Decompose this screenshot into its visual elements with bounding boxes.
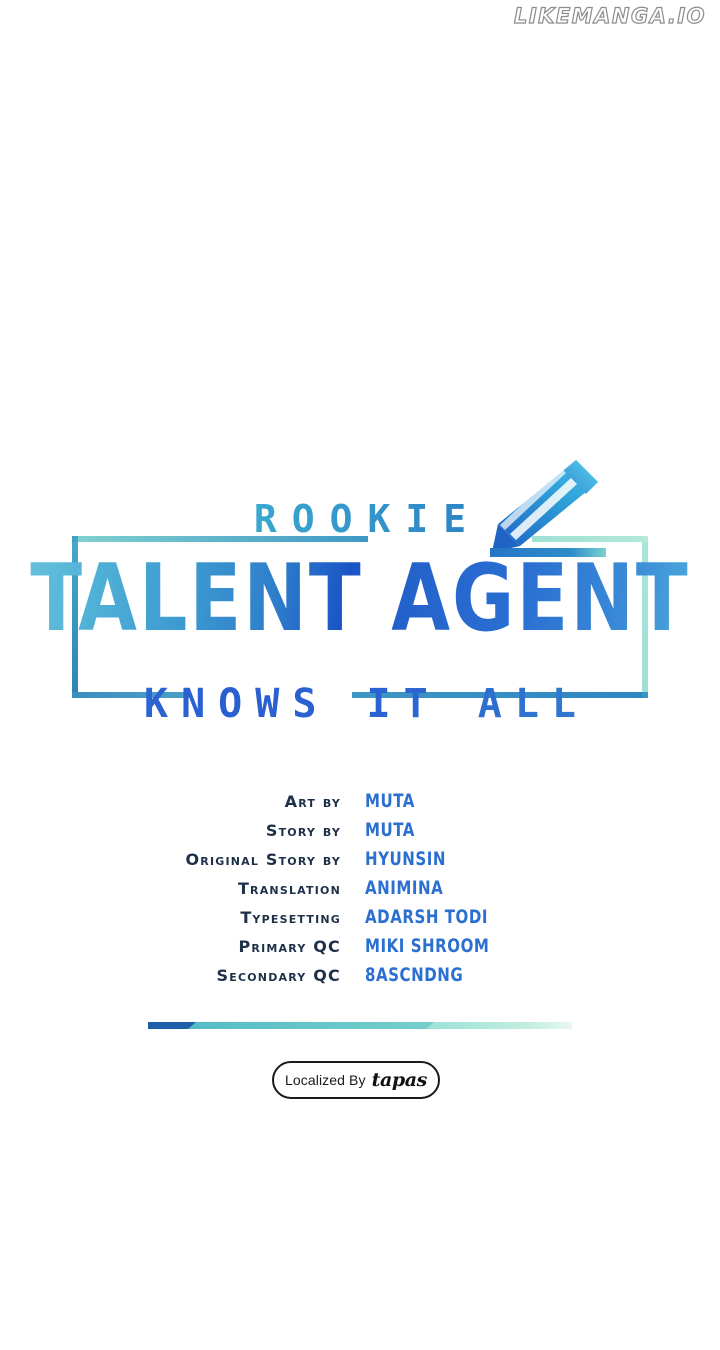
credit-label-typesetting: Typesetting (0, 908, 365, 927)
title-logo: ROOKIE TALENT AGENT KNOWS IT ALL (0, 452, 720, 752)
credits-list: Art by MUTA Story by MUTA Original Story… (0, 790, 720, 993)
credit-row: Secondary QC 8ASCNDNG (0, 964, 720, 993)
logo-line-rookie: ROOKIE (0, 500, 720, 538)
credit-label-primary-qc: Primary QC (0, 937, 365, 956)
tapas-brand-label: tapas (372, 1069, 427, 1091)
credit-value-story-by: MUTA (365, 819, 415, 841)
credit-value-translation: ANIMINA (365, 877, 443, 899)
credit-label-secondary-qc: Secondary QC (0, 966, 365, 985)
site-watermark: LIKEMANGA.IO (514, 4, 706, 28)
section-divider (148, 1022, 572, 1029)
credit-row: Art by MUTA (0, 790, 720, 819)
credit-value-typesetting: ADARSH TODI (365, 906, 488, 928)
credit-label-original-story-by: Original Story by (0, 850, 365, 869)
credit-row: Typesetting ADARSH TODI (0, 906, 720, 935)
credit-value-primary-qc: MIKI SHROOM (365, 935, 489, 957)
badge-prefix-label: Localized By (285, 1072, 366, 1088)
credit-label-art-by: Art by (0, 792, 365, 811)
logo-line-talent-agent: TALENT AGENT (0, 552, 720, 645)
credit-value-art-by: MUTA (365, 790, 415, 812)
localized-by-tapas-badge[interactable]: Localized By tapas (272, 1061, 440, 1099)
credit-row: Translation ANIMINA (0, 877, 720, 906)
credit-label-story-by: Story by (0, 821, 365, 840)
credit-label-translation: Translation (0, 879, 365, 898)
credit-value-secondary-qc: 8ASCNDNG (365, 964, 463, 986)
credit-row: Story by MUTA (0, 819, 720, 848)
credit-row: Original Story by HYUNSIN (0, 848, 720, 877)
logo-line-knows-it-all: KNOWS IT ALL (0, 684, 720, 724)
credit-row: Primary QC MIKI SHROOM (0, 935, 720, 964)
credit-value-original-story-by: HYUNSIN (365, 848, 446, 870)
